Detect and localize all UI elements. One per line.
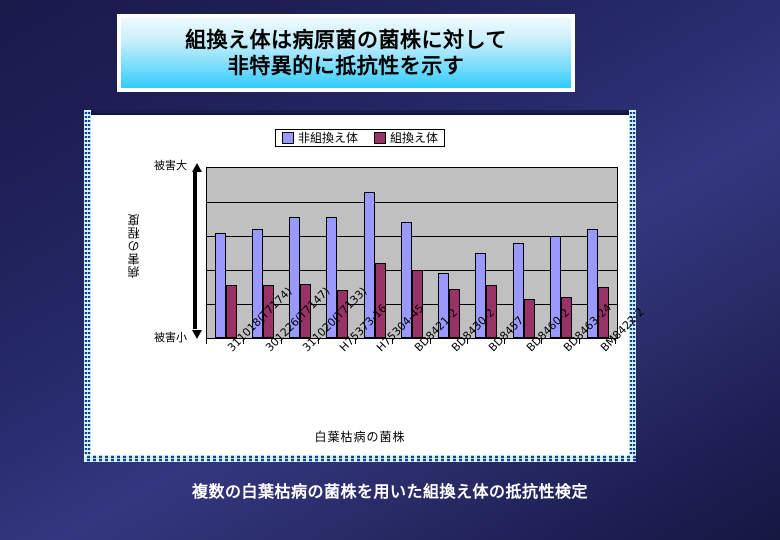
legend-entry-transgenic: 組換え体 [374, 132, 438, 144]
y-axis-top-label: 被害大 [154, 157, 187, 173]
x-axis-category-labels: 311018(T7174)301226(T7147)311020(T7133)H… [206, 345, 618, 437]
decorative-braid-left [84, 110, 91, 462]
legend-swatch-icon [282, 132, 294, 144]
slide-caption: 複数の白葉枯病の菌株を用いた組換え体の抵抗性検定 [0, 478, 780, 502]
bar-transgenic [524, 299, 535, 338]
y-axis-title: 病害の程度 [125, 213, 142, 278]
slide-title-box: 組換え体は病原菌の菌株に対して 非特異的に抵抗性を示す [117, 14, 575, 92]
legend-label-transgenic: 組換え体 [390, 132, 438, 144]
slide-title-line-1: 組換え体は病原菌の菌株に対して [185, 27, 507, 53]
bar-transgenic [226, 285, 237, 338]
legend-entry-non-transgenic: 非組換え体 [282, 132, 358, 144]
decorative-braid-bottom [84, 455, 636, 462]
chart-panel: 非組換え体 組換え体 被害大 被害小 病害の程度 [84, 110, 636, 462]
chart-canvas: 非組換え体 組換え体 被害大 被害小 病害の程度 [91, 113, 629, 455]
slide-canvas: 組換え体は病原菌の菌株に対して 非特異的に抵抗性を示す 非組換え体 組換え体 [0, 0, 780, 540]
y-axis-block: 被害大 被害小 病害の程度 [113, 161, 205, 341]
x-axis-tick [206, 339, 207, 344]
arrow-head-down-icon [192, 330, 202, 339]
bar-group [215, 168, 237, 338]
arrow-head-up-icon [192, 163, 202, 172]
legend-label-non-transgenic: 非組換え体 [298, 132, 358, 144]
plot-wrapper: 被害大 被害小 病害の程度 311018(T7174)301226(T7147)… [91, 161, 629, 401]
bar-non-transgenic [215, 233, 226, 338]
slide-title-line-2: 非特異的に抵抗性を示す [228, 53, 465, 79]
double-arrow-vertical-icon [193, 171, 197, 329]
chart-legend: 非組換え体 組換え体 [275, 129, 445, 147]
legend-swatch-icon [374, 132, 386, 144]
x-axis-title: 白葉枯病の菌株 [91, 428, 629, 445]
y-axis-bottom-label: 被害小 [154, 329, 187, 345]
decorative-braid-right [629, 110, 636, 462]
bar-group [513, 168, 535, 338]
